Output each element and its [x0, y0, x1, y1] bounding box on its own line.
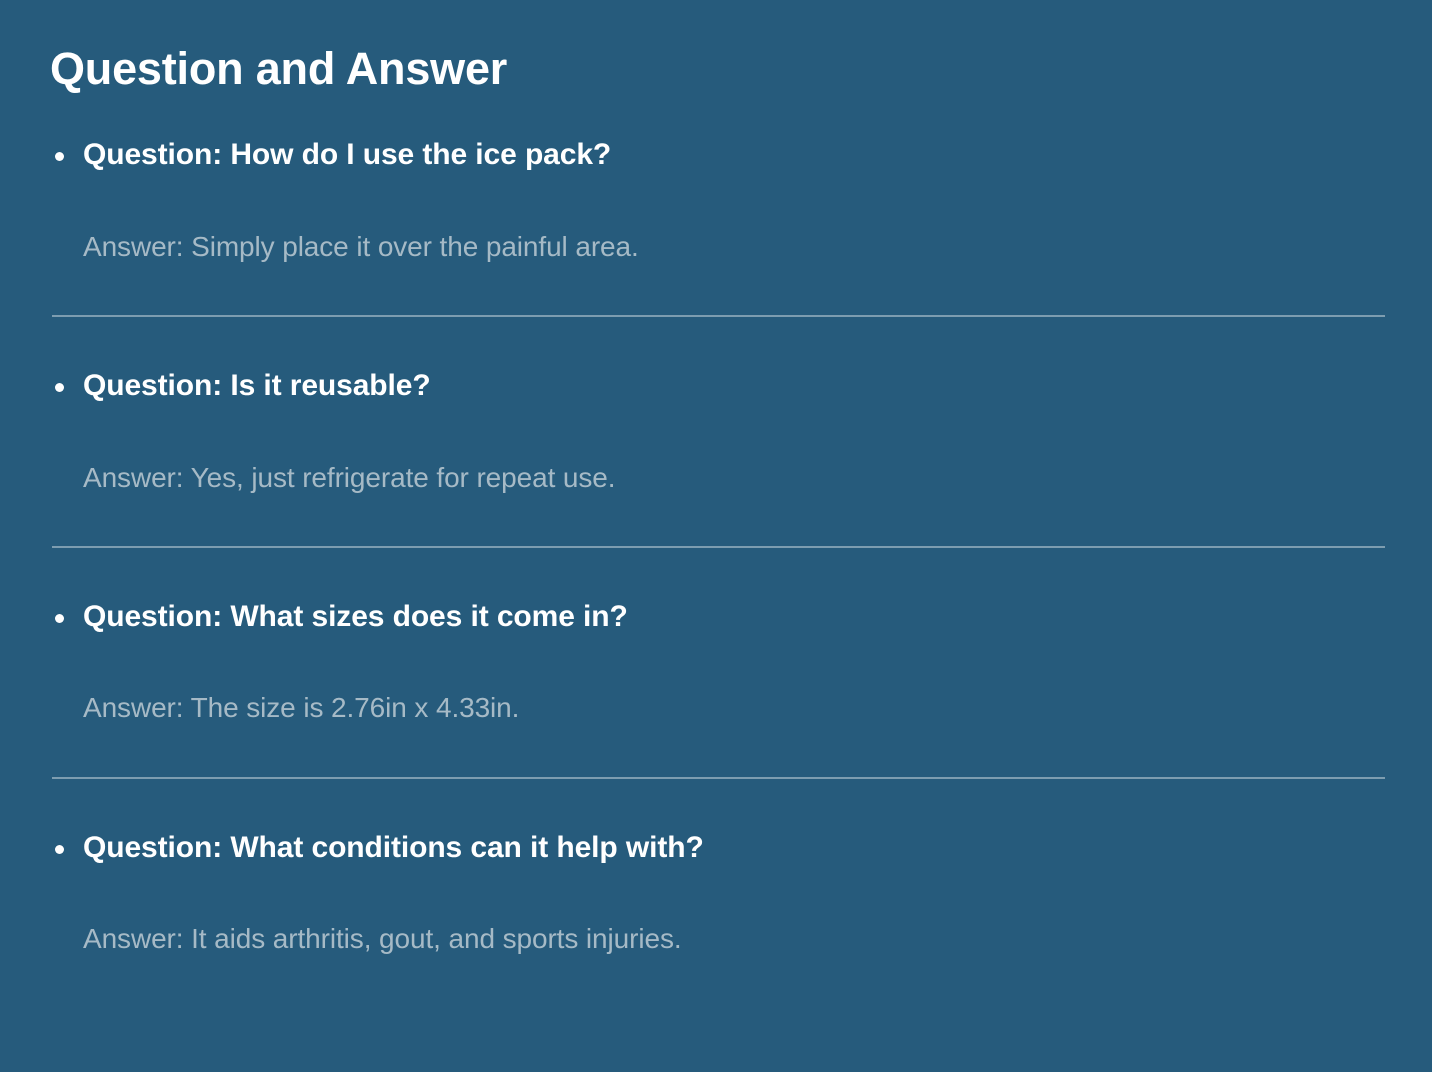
list-item: Question: Is it reusable? Answer: Yes, j…: [50, 367, 1385, 496]
faq-answer: Answer: Yes, just refrigerate for repeat…: [83, 460, 1385, 496]
faq-list: Question: How do I use the ice pack? Ans…: [50, 136, 1385, 957]
faq-question: Question: Is it reusable?: [83, 367, 1385, 405]
faq-divider: [52, 546, 1385, 548]
faq-answer: Answer: The size is 2.76in x 4.33in.: [83, 690, 1385, 726]
list-item: Question: What sizes does it come in? An…: [50, 598, 1385, 727]
page-title: Question and Answer: [50, 44, 1385, 94]
faq-divider: [52, 315, 1385, 317]
faq-answer: Answer: It aids arthritis, gout, and spo…: [83, 921, 1385, 957]
faq-question: Question: How do I use the ice pack?: [83, 136, 1385, 174]
faq-question: Question: What sizes does it come in?: [83, 598, 1385, 636]
bullet-dot-icon: [55, 383, 64, 392]
faq-answer: Answer: Simply place it over the painful…: [83, 229, 1385, 265]
bullet-dot-icon: [55, 845, 64, 854]
list-item: Question: How do I use the ice pack? Ans…: [50, 136, 1385, 265]
bullet-dot-icon: [55, 614, 64, 623]
question-and-answer-panel: Question and Answer Question: How do I u…: [0, 0, 1432, 1072]
faq-question: Question: What conditions can it help wi…: [83, 829, 1385, 867]
bullet-dot-icon: [55, 152, 64, 161]
list-item: Question: What conditions can it help wi…: [50, 829, 1385, 958]
faq-divider: [52, 777, 1385, 779]
